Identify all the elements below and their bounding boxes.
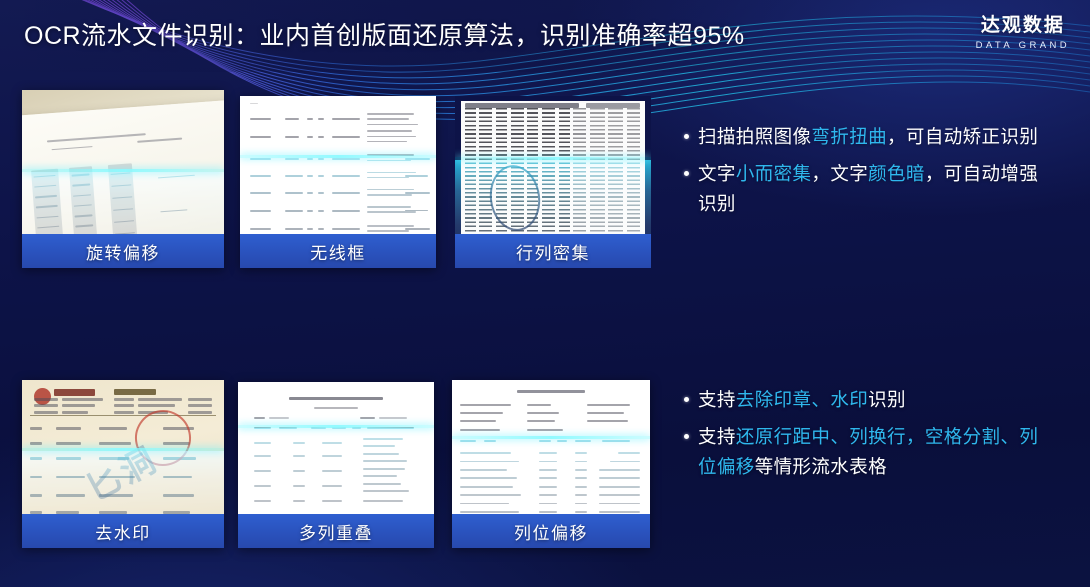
bullet-highlight: 颜色暗 (868, 163, 925, 184)
bullet-plain: 支持 (698, 426, 736, 447)
bullet-dot-icon (684, 397, 689, 402)
logo-name-en: DATA GRAND (976, 40, 1070, 51)
bullet-plain: 扫描拍照图像 (698, 126, 811, 147)
bullet-highlight: 小而密集 (736, 163, 812, 184)
bullet-text: 扫描拍照图像弯折扭曲，可自动矫正识别 (698, 122, 1038, 152)
bullet-text: 支持去除印章、水印识别 (698, 385, 906, 415)
bullet-text: 支持还原行距中、列换行，空格分割、列位偏移等情形流水表格 (698, 422, 1050, 482)
sample-card-watermark[interactable]: 匕洞 去水印 (22, 380, 224, 548)
bullet-plain: 文字 (698, 163, 736, 184)
bullet-group-bottom: 支持去除印章、水印识别支持还原行距中、列换行，空格分割、列位偏移等情形流水表格 (684, 385, 1050, 489)
card-caption: 去水印 (22, 514, 224, 548)
bullet-item: 扫描拍照图像弯折扭曲，可自动矫正识别 (684, 122, 1050, 152)
sample-card-borderless[interactable]: 无线框 (240, 96, 436, 268)
bullet-group-top: 扫描拍照图像弯折扭曲，可自动矫正识别文字小而密集，文字颜色暗，可自动增强识别 (684, 122, 1050, 226)
brand-logo: 达观数据 DATA GRAND (976, 10, 1070, 51)
bullet-highlight: 去除印章、水印 (736, 389, 868, 410)
bullet-plain: ，文字 (811, 163, 868, 184)
bullet-item: 支持去除印章、水印识别 (684, 385, 1050, 415)
sample-card-overlap[interactable]: 多列重叠 (238, 382, 434, 548)
slide-root: OCR流水文件识别：业内首创版面还原算法，识别准确率超95% 达观数据 DATA… (0, 0, 1090, 587)
sample-card-rotated[interactable]: 旋转偏移 (22, 90, 224, 268)
bullet-item: 支持还原行距中、列换行，空格分割、列位偏移等情形流水表格 (684, 422, 1050, 482)
card-caption: 行列密集 (455, 234, 651, 268)
bullet-plain: ，可自动矫正识别 (887, 126, 1038, 147)
card-caption: 无线框 (240, 234, 436, 268)
bullet-item: 文字小而密集，文字颜色暗，可自动增强识别 (684, 159, 1050, 219)
logo-name-cn: 达观数据 (976, 10, 1070, 37)
bullet-plain: 等情形流水表格 (755, 456, 887, 477)
bullet-plain: 识别 (868, 389, 906, 410)
card-caption: 列位偏移 (452, 514, 650, 548)
bullet-highlight: 弯折扭曲 (811, 126, 887, 147)
sample-card-dense[interactable]: 行列密集 (455, 96, 651, 268)
bullet-plain: 支持 (698, 389, 736, 410)
card-caption: 多列重叠 (238, 514, 434, 548)
page-title: OCR流水文件识别：业内首创版面还原算法，识别准确率超95% (24, 16, 745, 52)
bullet-text: 文字小而密集，文字颜色暗，可自动增强识别 (698, 159, 1050, 219)
sample-card-shifted[interactable]: 列位偏移 (452, 380, 650, 548)
bullet-dot-icon (684, 434, 689, 439)
bullet-dot-icon (684, 171, 689, 176)
card-caption: 旋转偏移 (22, 234, 224, 268)
bullet-dot-icon (684, 134, 689, 139)
